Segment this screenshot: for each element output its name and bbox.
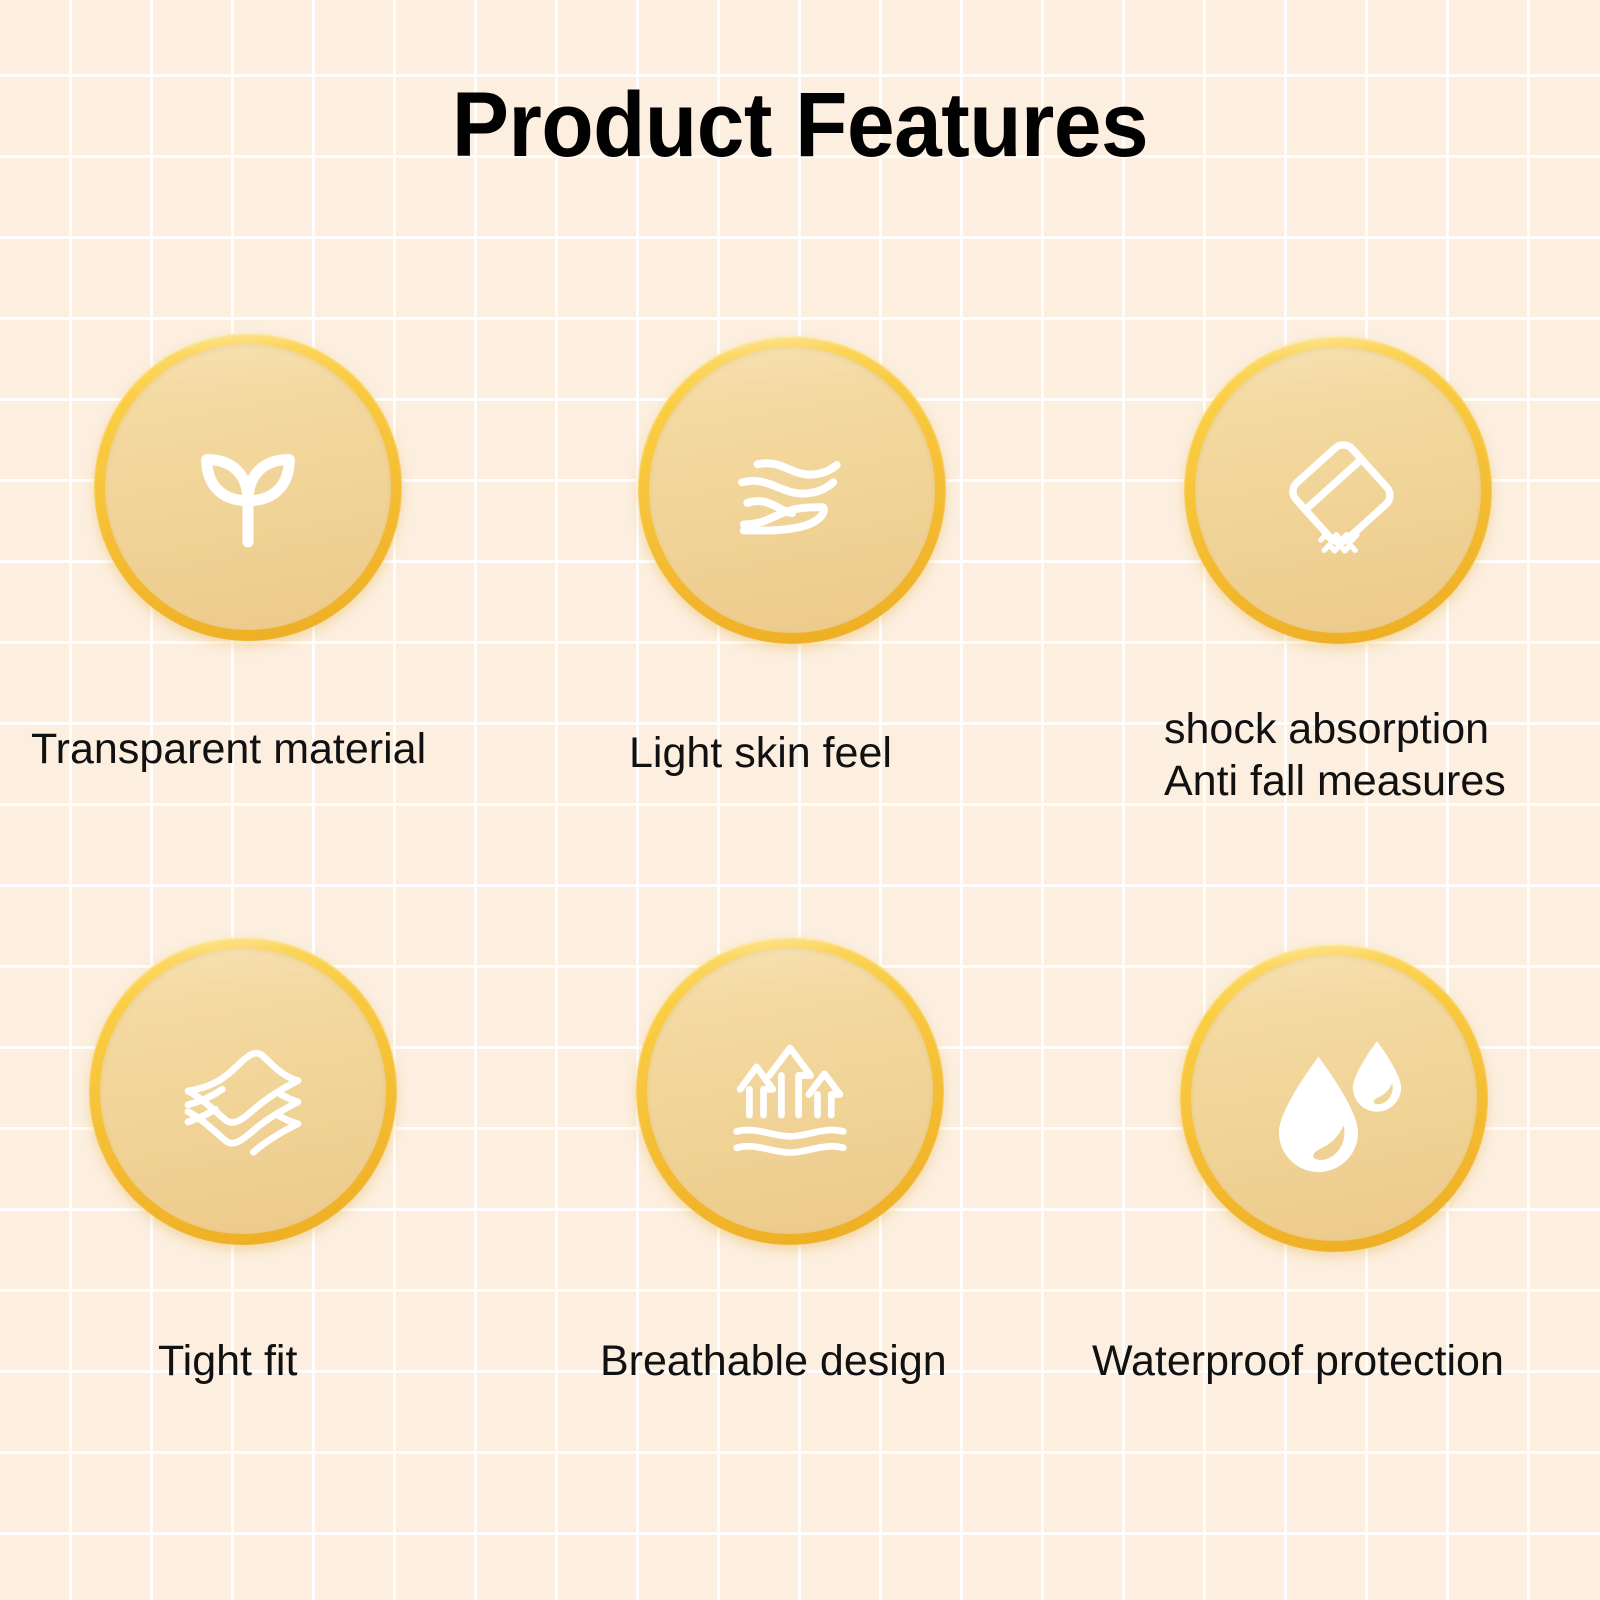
sprout-icon [162,401,334,573]
feature-label-line: Transparent material [31,723,426,775]
layers-icon [157,1005,329,1177]
feature-item-breathable-design[interactable] [636,937,944,1245]
feature-icon-badge [94,333,402,641]
feature-item-transparent-material[interactable] [94,333,402,641]
feature-icon-badge [636,937,944,1245]
feature-label-line: Breathable design [600,1335,947,1387]
feature-label-tight-fit: Tight fit [158,1335,297,1387]
feature-item-light-skin-feel[interactable] [638,336,946,644]
feature-item-waterproof-protection[interactable] [1180,944,1488,1252]
feature-label-light-skin-feel: Light skin feel [629,727,892,779]
feature-icon-badge [89,937,397,1245]
product-features-page: Product Features Transparent material [0,0,1600,1600]
feature-label-line: Tight fit [158,1335,297,1387]
feature-icon-badge-face [1195,347,1481,633]
feature-label-transparent-material: Transparent material [31,723,426,775]
feature-label-line: Waterproof protection [1092,1335,1504,1387]
breathable-arrows-icon [704,1005,876,1177]
feature-icon-badge [1184,336,1492,644]
feature-icon-badge [638,336,946,644]
feature-icon-badge-face [105,344,391,630]
water-droplets-icon [1248,1012,1420,1184]
feature-label-line: shock absorption [1164,703,1506,755]
feature-icon-badge-face [1191,955,1477,1241]
feature-label-shock-absorption: shock absorption Anti fall measures [1164,703,1506,808]
feature-icon-badge-face [647,948,933,1234]
feature-item-shock-absorption[interactable] [1184,336,1492,644]
feature-label-line: Anti fall measures [1164,755,1506,807]
feature-label-waterproof-protection: Waterproof protection [1092,1335,1504,1387]
feature-icon-badge-face [649,347,935,633]
feature-icon-badge [1180,944,1488,1252]
page-title: Product Features [56,78,1544,174]
shock-absorption-icon [1252,404,1424,576]
feature-icon-badge-face [100,948,386,1234]
airflow-hand-icon [706,404,878,576]
feature-label-breathable-design: Breathable design [600,1335,947,1387]
feature-item-tight-fit[interactable] [89,937,397,1245]
feature-label-line: Light skin feel [629,727,892,779]
